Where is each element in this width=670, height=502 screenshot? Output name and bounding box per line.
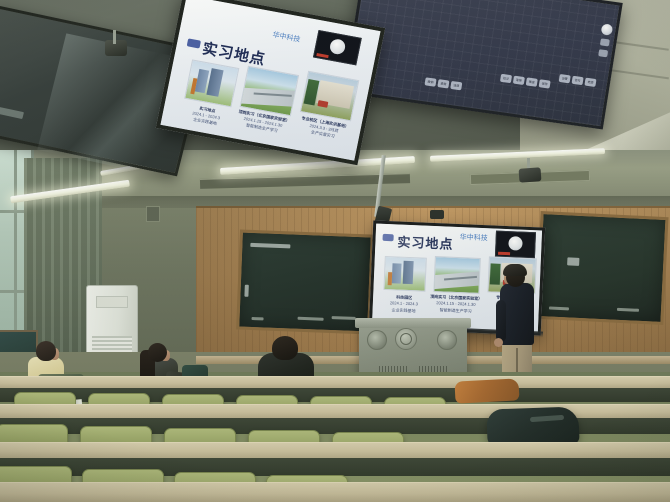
student-mid-left-head bbox=[148, 343, 167, 362]
chalk-mark bbox=[252, 317, 264, 320]
panel-button[interactable]: 电源 bbox=[584, 78, 596, 87]
chalk-holder bbox=[244, 285, 248, 297]
wall-junction-box bbox=[146, 206, 160, 222]
power-icon[interactable] bbox=[601, 23, 614, 35]
blackboard-right[interactable] bbox=[535, 211, 668, 325]
photo-road-aerial bbox=[241, 67, 298, 115]
orange-jacket-on-desk bbox=[454, 378, 519, 403]
panel-button[interactable]: 橡皮 bbox=[526, 77, 538, 86]
photo-campus-gate bbox=[301, 72, 358, 120]
menu-icon[interactable] bbox=[598, 49, 608, 57]
desk-surface bbox=[0, 376, 670, 388]
presenter-cap bbox=[503, 264, 527, 276]
chalk-mark bbox=[298, 317, 324, 321]
chalk-mark bbox=[617, 308, 639, 312]
ac-vent-grille bbox=[92, 336, 132, 352]
chalk-tray-marker bbox=[250, 243, 290, 249]
chalk-mark bbox=[332, 316, 356, 320]
tv-logo-badge bbox=[0, 105, 24, 119]
emblem-inner-ring bbox=[400, 333, 412, 345]
input-source-icon[interactable] bbox=[600, 38, 610, 46]
window-mullion bbox=[14, 150, 17, 358]
screen-top-camera bbox=[430, 210, 444, 219]
panel-toolbar-group-2[interactable]: 批注 笔锋 橡皮 保存 bbox=[500, 74, 551, 89]
panel-button[interactable]: 保存 bbox=[539, 79, 551, 88]
student-center-head bbox=[272, 336, 298, 360]
panel-button[interactable]: 撤销 bbox=[424, 77, 436, 86]
panel-button[interactable]: 信号 bbox=[572, 76, 584, 85]
chalk-tray-marker bbox=[567, 257, 579, 266]
panel-button[interactable]: 笔锋 bbox=[513, 76, 525, 85]
panel-button[interactable]: 清屏 bbox=[450, 81, 462, 90]
lectern-speaker-left bbox=[367, 330, 387, 350]
student-left-head bbox=[36, 341, 56, 361]
photo-city-buildings bbox=[185, 61, 238, 107]
ac-control-panel[interactable] bbox=[96, 296, 128, 308]
ceiling-camera-right bbox=[519, 167, 542, 183]
desk-surface bbox=[0, 482, 670, 502]
presenter-hand bbox=[494, 338, 503, 347]
lectern-top-surface bbox=[355, 318, 471, 328]
panel-button[interactable]: 设置 bbox=[559, 74, 571, 83]
panel-sidebar[interactable] bbox=[597, 23, 613, 57]
desk-surface bbox=[0, 442, 670, 458]
panel-button[interactable]: 批注 bbox=[500, 74, 512, 83]
panel-toolbar-group-3[interactable]: 设置 信号 电源 bbox=[559, 74, 597, 87]
lecture-hall-photo: 撤销 重做 清屏 批注 笔锋 橡皮 保存 设置 信号 电源 投屏 实习地点 华中… bbox=[0, 0, 670, 502]
desk-row-bottom bbox=[0, 482, 670, 502]
panel-button[interactable]: 重做 bbox=[437, 79, 449, 88]
ceiling-camera-left bbox=[105, 40, 127, 56]
slide-photo-1 bbox=[184, 59, 239, 107]
camera-light-orb bbox=[329, 38, 347, 55]
camera-mount-arm bbox=[113, 30, 116, 44]
photo-detail bbox=[317, 101, 328, 108]
presenter-arm bbox=[496, 300, 506, 342]
blackboard-left[interactable] bbox=[236, 229, 374, 334]
chalk-mark bbox=[549, 306, 569, 310]
photo-detail bbox=[190, 78, 197, 94]
lectern-speaker-right bbox=[437, 330, 457, 350]
rec-badge bbox=[316, 53, 328, 58]
panel-toolbar-group-1[interactable]: 撤销 重做 清屏 bbox=[424, 77, 462, 90]
